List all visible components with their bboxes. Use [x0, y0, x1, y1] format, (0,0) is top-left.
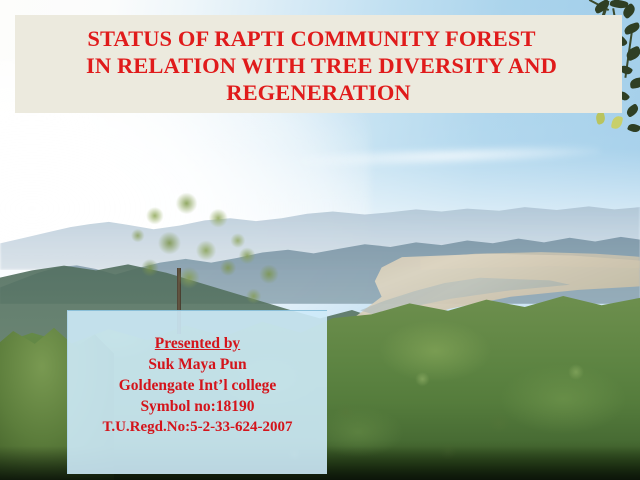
- slide-title-box: STATUS OF RAPTI COMMUNITY FOREST IN RELA…: [15, 15, 622, 113]
- title-line-1: STATUS OF RAPTI COMMUNITY FOREST: [87, 25, 535, 52]
- presenter-regd-no: T.U.Regd.No:5-2-33-624-2007: [102, 417, 292, 438]
- presenter-name: Suk Maya Pun: [148, 354, 246, 375]
- presenter-symbol-no: Symbol no:18190: [140, 396, 254, 417]
- presented-by-heading: Presented by: [155, 333, 240, 354]
- secondary-tree-canopy: [228, 230, 292, 322]
- title-slide: STATUS OF RAPTI COMMUNITY FOREST IN RELA…: [0, 0, 640, 480]
- presenter-institution: Goldengate Int’l college: [119, 375, 277, 396]
- title-line-2: IN RELATION WITH TREE DIVERSITY AND: [86, 52, 557, 79]
- presenter-info-box: Presented by Suk Maya Pun Goldengate Int…: [67, 310, 327, 474]
- title-line-3: REGENERATION: [226, 79, 411, 106]
